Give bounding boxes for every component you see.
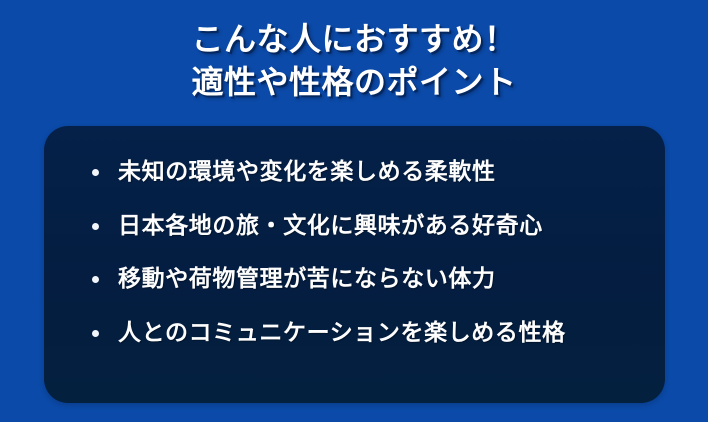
- bullet-dot-icon: [92, 276, 99, 283]
- bullet-dot-icon: [92, 169, 99, 176]
- title-line-2: 適性や性格のポイント: [0, 61, 708, 104]
- slide-root: こんな人におすすめ！ 適性や性格のポイント 未知の環境や変化を楽しめる柔軟性 日…: [0, 0, 708, 422]
- list-item-label: 移動や荷物管理が苦にならない体力: [118, 263, 639, 293]
- bullet-dot-icon: [92, 330, 99, 337]
- points-list: 未知の環境や変化を楽しめる柔軟性 日本各地の旅・文化に興味がある好奇心 移動や荷…: [92, 156, 639, 370]
- list-item: 日本各地の旅・文化に興味がある好奇心: [92, 210, 639, 264]
- list-item: 人とのコミュニケーションを楽しめる性格: [92, 317, 639, 371]
- page-title: こんな人におすすめ！ 適性や性格のポイント: [0, 18, 708, 104]
- bullet-dot-icon: [92, 223, 99, 230]
- title-line-1: こんな人におすすめ！: [0, 18, 708, 61]
- list-item-label: 人とのコミュニケーションを楽しめる性格: [118, 317, 639, 347]
- points-card: 未知の環境や変化を楽しめる柔軟性 日本各地の旅・文化に興味がある好奇心 移動や荷…: [44, 126, 665, 403]
- list-item: 移動や荷物管理が苦にならない体力: [92, 263, 639, 317]
- list-item-label: 日本各地の旅・文化に興味がある好奇心: [118, 210, 639, 240]
- list-item-label: 未知の環境や変化を楽しめる柔軟性: [118, 156, 639, 186]
- list-item: 未知の環境や変化を楽しめる柔軟性: [92, 156, 639, 210]
